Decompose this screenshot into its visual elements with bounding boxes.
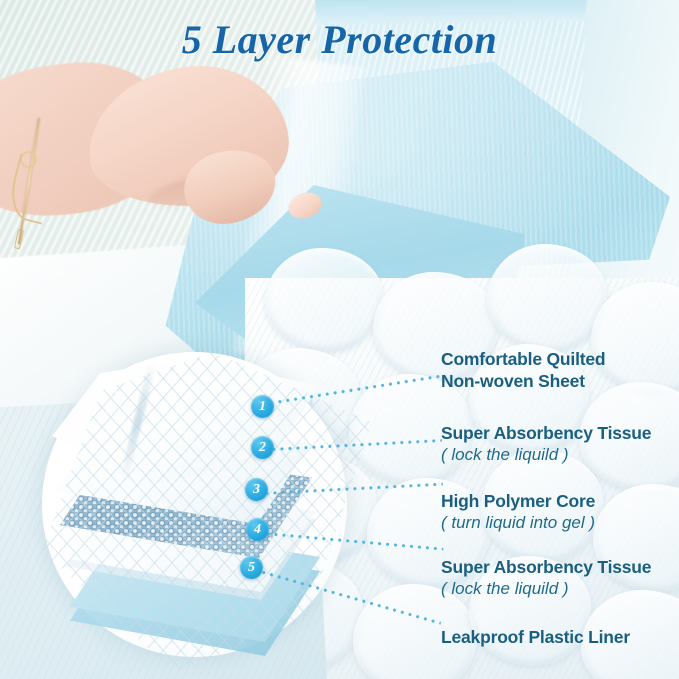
layer-badge-1[interactable]: 1	[251, 395, 274, 418]
layer-5-title: Leakproof Plastic Liner	[441, 626, 630, 648]
layer-4-note: ( lock the liquild )	[441, 578, 651, 600]
layer-badge-4[interactable]: 4	[246, 518, 269, 541]
layer-2-title: Super Absorbency Tissue	[441, 422, 651, 444]
page-title: 5 Layer Protection	[0, 16, 679, 64]
layer-label-5: Leakproof Plastic Liner	[441, 626, 630, 648]
quilt-blob	[487, 244, 607, 352]
exploded-layer-stack	[42, 352, 372, 672]
bracelet-bar-charm	[14, 229, 24, 250]
layer-3-title: High Polymer Core	[441, 490, 595, 512]
layer-badge-2[interactable]: 2	[251, 436, 274, 459]
layer-label-2: Super Absorbency Tissue ( lock the liqui…	[441, 422, 651, 466]
layer-4-title: Super Absorbency Tissue	[441, 556, 651, 578]
layer-label-4: Super Absorbency Tissue ( lock the liqui…	[441, 556, 651, 600]
layer-2-note: ( lock the liquild )	[441, 444, 651, 466]
bracelet	[6, 117, 76, 249]
bracelet-script-charm	[5, 153, 57, 224]
layer-1-title-line2: Non-woven Sheet	[441, 370, 605, 392]
layer-badge-3[interactable]: 3	[245, 478, 268, 501]
layer-label-3: High Polymer Core ( turn liquid into gel…	[441, 490, 595, 534]
infographic-canvas: 1 2 3 4 5 Comfortable Quilted Non-woven …	[0, 0, 679, 679]
layer-label-1: Comfortable Quilted Non-woven Sheet	[441, 348, 605, 392]
hand-photo	[0, 55, 318, 270]
layer-1-title: Comfortable Quilted	[441, 348, 605, 370]
layer-badge-5[interactable]: 5	[240, 556, 263, 579]
quilt-blob	[265, 248, 383, 352]
layer-3-note: ( turn liquid into gel )	[441, 512, 595, 534]
